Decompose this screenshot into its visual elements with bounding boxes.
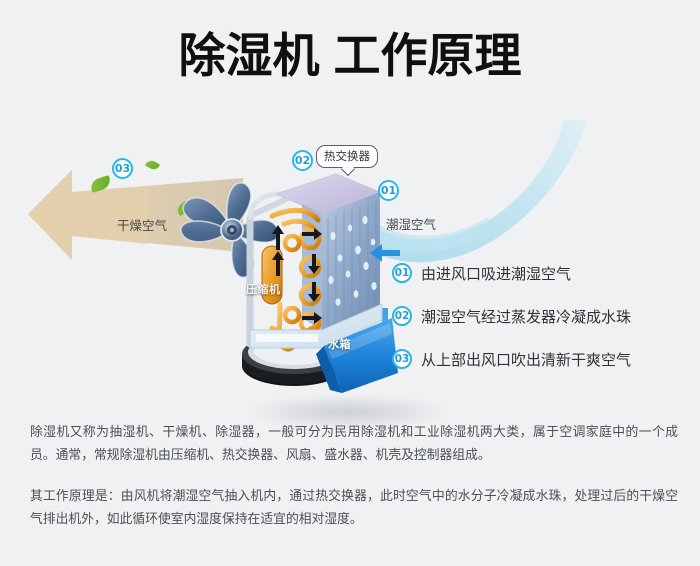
step-item: 02 潮湿空气经过蒸发器冷凝成水珠 <box>392 298 692 334</box>
step-text-01: 由进风口吸进潮湿空气 <box>421 263 571 284</box>
step-item: 03 从上部出风口吹出清新干爽空气 <box>392 341 692 377</box>
water-tank-label: 水箱 <box>328 336 351 352</box>
step-badge-02: 02 <box>392 306 412 326</box>
description-paragraph-2: 其工作原理是：由风机将潮湿空气抽入机内，通过热交换器，此时空气中的水分子冷凝成水… <box>30 485 678 531</box>
diagram-badge-02: 02 <box>292 150 313 171</box>
steps-list: 01 由进风口吸进潮湿空气 02 潮湿空气经过蒸发器冷凝成水珠 03 从上部出风… <box>392 255 692 384</box>
title-part-2: 工作原理 <box>334 29 522 84</box>
title-part-1: 除湿机 <box>179 29 320 84</box>
step-text-02: 潮湿空气经过蒸发器冷凝成水珠 <box>421 306 631 327</box>
step-text-03: 从上部出风口吹出清新干爽空气 <box>421 349 631 370</box>
dehumidifier-body <box>232 158 402 393</box>
diagram-badge-03: 03 <box>112 158 133 179</box>
floor-shadow <box>248 395 448 429</box>
humid-air-label: 潮湿空气 <box>386 214 436 233</box>
compressor-label: 压缩机 <box>246 281 281 297</box>
page-root: 除湿机工作原理 <box>0 0 700 566</box>
heat-exchanger-label: 热交换器 <box>324 149 370 163</box>
dry-air-label: 干燥空气 <box>117 215 167 234</box>
heat-exchanger-callout: 热交换器 <box>316 145 378 168</box>
page-title: 除湿机工作原理 <box>0 33 700 80</box>
description-block: 除湿机又称为抽湿机、干燥机、除湿器，一般可分为民用除湿机和工业除湿机两大类，属于… <box>30 421 678 531</box>
step-item: 01 由进风口吸进潮湿空气 <box>392 255 692 291</box>
diagram-badge-01: 01 <box>378 180 399 201</box>
step-badge-03: 03 <box>392 349 412 369</box>
step-badge-01: 01 <box>392 263 412 283</box>
